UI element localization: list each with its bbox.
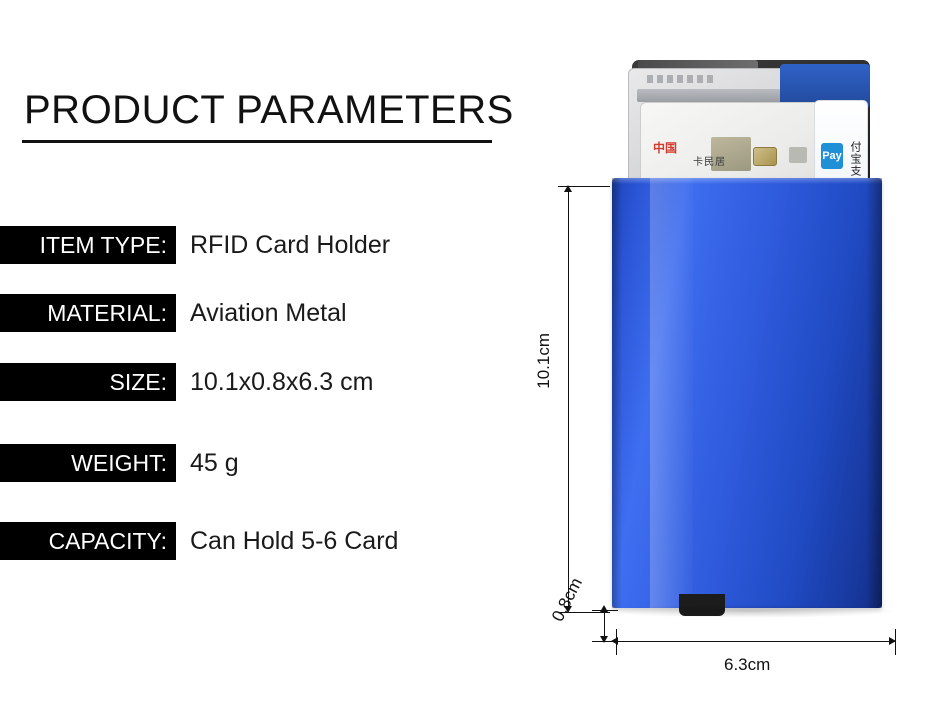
id-card-text: 卡民居 [693,153,726,168]
spec-value-material: Aviation Metal [176,299,347,328]
spec-row: ITEM TYPE: RFID Card Holder [0,226,390,264]
case-right-edge [866,178,882,608]
spec-row: WEIGHT: 45 g [0,444,239,482]
spec-value-size: 10.1x0.8x6.3 cm [176,368,373,397]
spec-label-capacity: CAPACITY: [0,522,176,560]
page-title: PRODUCT PARAMETERS [24,88,514,133]
spec-label-item-type: ITEM TYPE: [0,226,176,264]
id-card-chip [753,147,777,166]
parameters-panel: PRODUCT PARAMETERS ITEM TYPE: RFID Card … [0,0,540,708]
alipay-card-text: 付宝支 [847,141,863,177]
spec-row: CAPACITY: Can Hold 5-6 Card [0,522,398,560]
width-tick-left [616,629,617,655]
product-image: 中国 卡民居 Pay 付宝支 [540,0,950,708]
height-tick-top [558,186,610,187]
id-card-logo: 中国 [653,139,677,156]
height-dimension-label: 10.1cm [534,330,554,392]
spec-value-capacity: Can Hold 5-6 Card [176,527,398,556]
spec-row: MATERIAL: Aviation Metal [0,294,347,332]
id-card-emblem [789,147,807,163]
width-tick-right [895,629,896,655]
spec-row: SIZE: 10.1x0.8x6.3 cm [0,363,373,401]
spec-label-weight: WEIGHT: [0,444,176,482]
spec-value-weight: 45 g [176,449,239,478]
height-dimension-line [568,190,569,608]
card-scribble [647,75,717,83]
title-underline [22,140,492,143]
card-case-body [612,178,882,608]
spec-value-item-type: RFID Card Holder [176,231,390,260]
width-dimension-line [616,641,896,642]
thickness-tick-top [592,610,618,611]
pay-badge: Pay [821,143,843,169]
spec-label-size: SIZE: [0,363,176,401]
card-stack: 中国 卡民居 Pay 付宝支 [628,60,876,195]
case-left-edge [612,178,622,608]
product-shadow [600,604,900,618]
spec-label-material: MATERIAL: [0,294,176,332]
width-dimension-label: 6.3cm [724,655,770,675]
case-highlight [650,178,693,608]
